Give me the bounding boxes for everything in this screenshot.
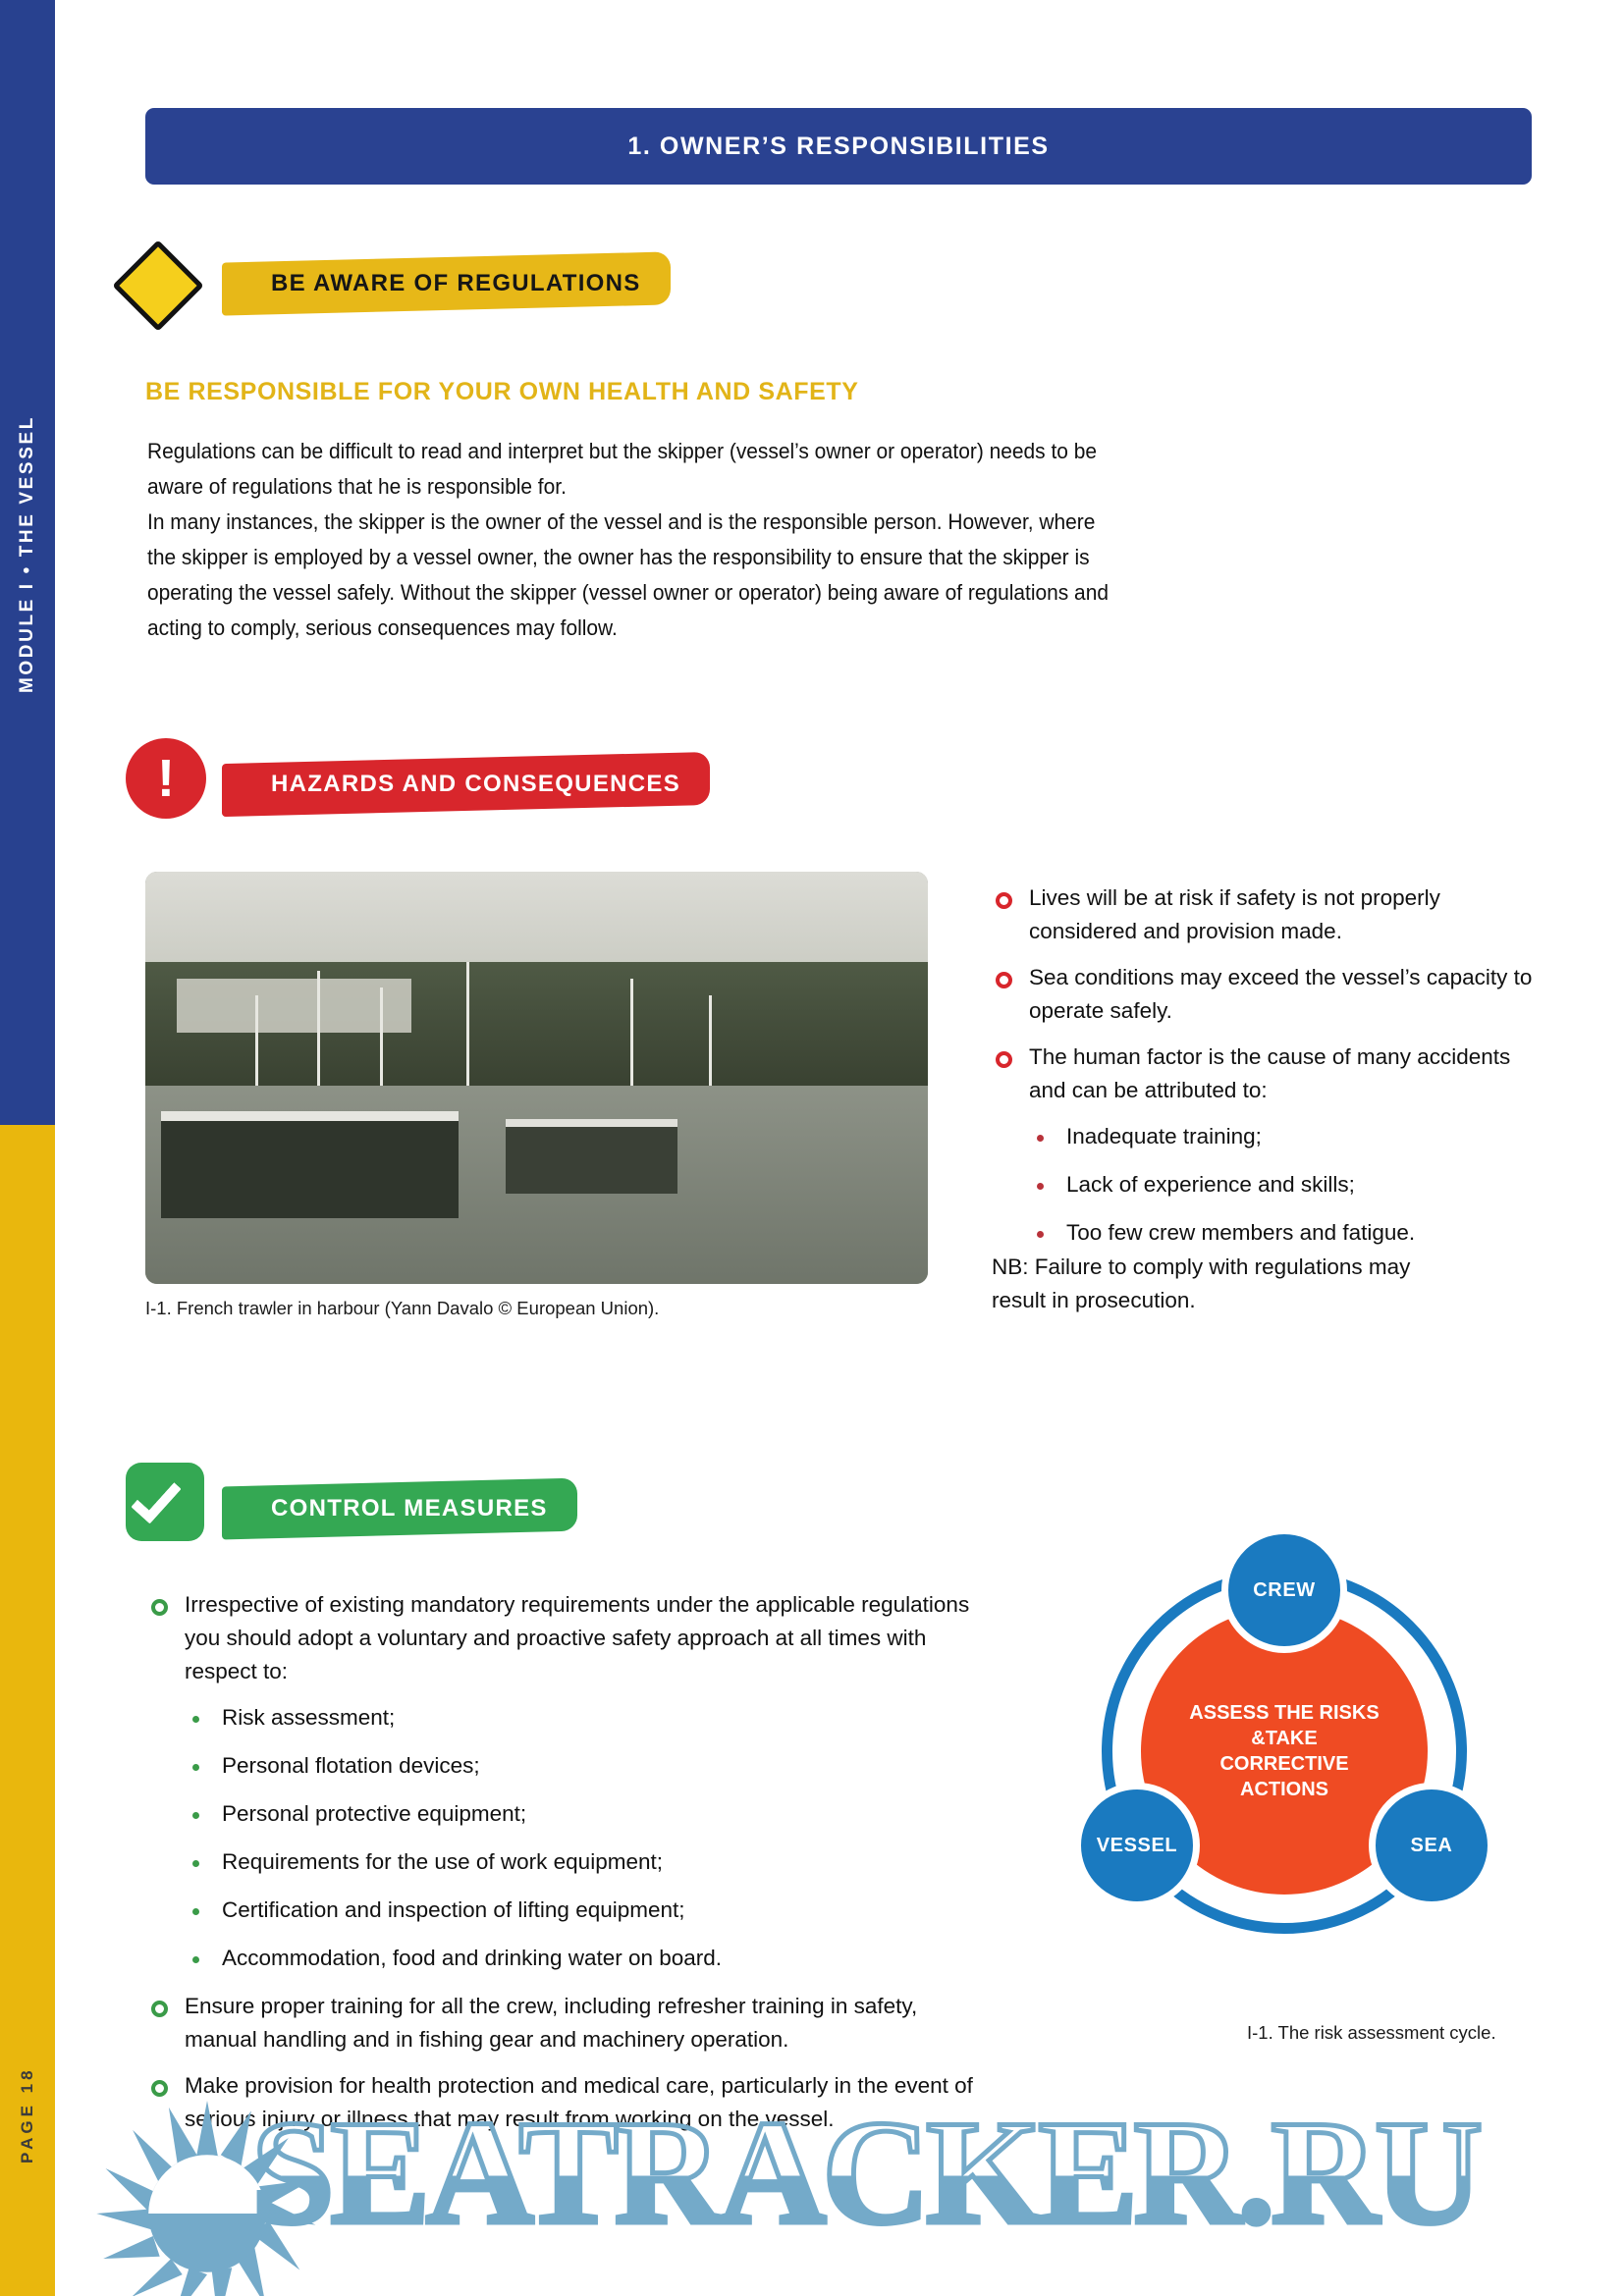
banner-ribbon-red: HAZARDS AND CONSEQUENCES: [222, 752, 710, 817]
photo-foreground-trawler: [161, 1111, 459, 1218]
photo-french-trawler: [145, 872, 928, 1284]
risk-assessment-cycle-diagram: ASSESS THE RISKS &TAKE CORRECTIVE ACTION…: [1039, 1541, 1549, 1963]
module-label: MODULE I • THE VESSEL: [0, 324, 55, 785]
paragraph-regulations-2: In many instances, the skipper is the ow…: [147, 505, 1126, 646]
list-item: Personal protective equipment;: [145, 1797, 990, 1831]
photo-caption: I-1. French trawler in harbour (Yann Dav…: [145, 1298, 659, 1319]
photo-background-trawler: [506, 1119, 677, 1194]
banner-label-hazards: HAZARDS AND CONSEQUENCES: [271, 771, 680, 798]
subheading-health-and-safety: BE RESPONSIBLE FOR YOUR OWN HEALTH AND S…: [145, 378, 859, 406]
list-item: The human factor is the cause of many ac…: [990, 1041, 1540, 1107]
list-item: Sea conditions may exceed the vessel’s c…: [990, 961, 1540, 1028]
cycle-node-vessel: VESSEL: [1074, 1783, 1200, 1908]
page-title: 1. OWNER’S RESPONSIBILITIES: [145, 108, 1532, 185]
control-measures-bullet-list: Irrespective of existing mandatory requi…: [145, 1588, 990, 2149]
cycle-center-line-3: CORRECTIVE: [1219, 1751, 1348, 1777]
list-item: Ensure proper training for all the crew,…: [145, 1990, 990, 2056]
hazards-bullet-list: Lives will be at risk if safety is not p…: [990, 881, 1540, 1264]
banner-ribbon-green: CONTROL MEASURES: [222, 1478, 577, 1540]
list-item: Risk assessment;: [145, 1701, 990, 1735]
banner-label-regulations: BE AWARE OF REGULATIONS: [271, 270, 641, 297]
list-item: Lives will be at risk if safety is not p…: [990, 881, 1540, 948]
hazards-note: NB: Failure to comply with regulations m…: [992, 1251, 1443, 1317]
paragraph-regulations-1: Regulations can be difficult to read and…: [147, 434, 1126, 505]
list-item: Lack of experience and skills;: [990, 1168, 1540, 1201]
list-item: Personal flotation devices;: [145, 1749, 990, 1783]
list-item: Irrespective of existing mandatory requi…: [145, 1588, 990, 1688]
page-number-label: PAGE 18: [0, 1993, 55, 2238]
list-item: Inadequate training;: [990, 1120, 1540, 1153]
list-item: Certification and inspection of lifting …: [145, 1894, 990, 1927]
list-item: Accommodation, food and drinking water o…: [145, 1942, 990, 1975]
cycle-center-line-1: ASSESS THE RISKS: [1189, 1700, 1379, 1726]
banner-be-aware-of-regulations: BE AWARE OF REGULATIONS: [145, 247, 656, 322]
photo-houses-region: [177, 979, 411, 1033]
banner-control-measures: CONTROL MEASURES: [145, 1472, 607, 1547]
cycle-center-line-2: &TAKE: [1251, 1726, 1317, 1751]
document-page: MODULE I • THE VESSEL PAGE 18 1. OWNER’S…: [0, 0, 1624, 2296]
cycle-node-crew: CREW: [1221, 1527, 1347, 1653]
banner-ribbon-yellow: BE AWARE OF REGULATIONS: [222, 251, 671, 315]
list-item: Requirements for the use of work equipme…: [145, 1845, 990, 1879]
list-item: Make provision for health protection and…: [145, 2069, 990, 2136]
diagram-caption: I-1. The risk assessment cycle.: [1247, 2022, 1496, 2044]
banner-hazards-and-consequences: HAZARDS AND CONSEQUENCES: [145, 748, 695, 823]
list-item: Too few crew members and fatigue.: [990, 1216, 1540, 1250]
cycle-center-line-4: ACTIONS: [1240, 1777, 1328, 1802]
banner-label-control: CONTROL MEASURES: [271, 1495, 548, 1522]
cycle-node-sea: SEA: [1369, 1783, 1494, 1908]
